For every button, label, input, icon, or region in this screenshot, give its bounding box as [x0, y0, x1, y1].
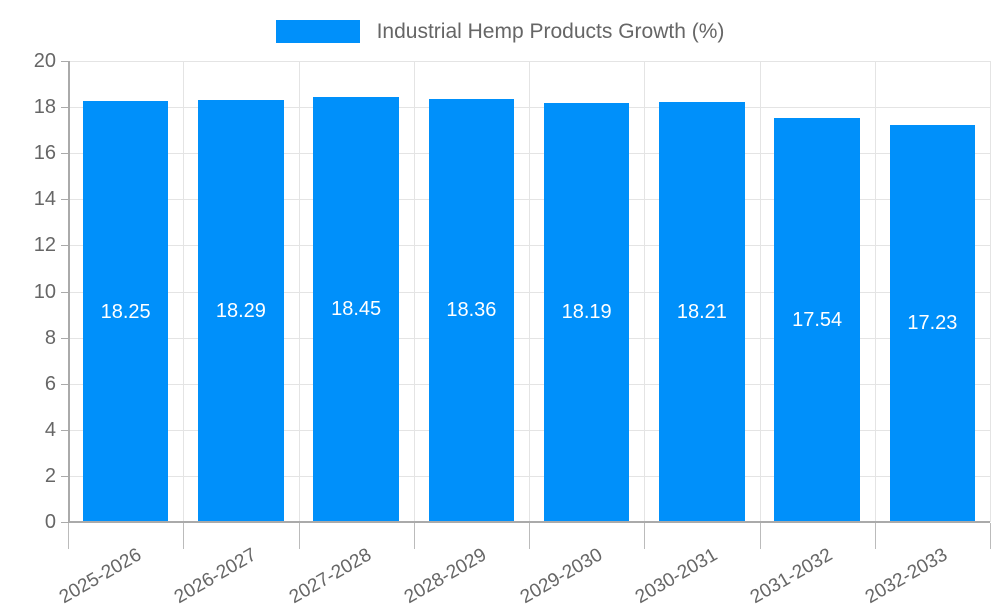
y-axis-tick	[61, 245, 68, 246]
y-axis-tick	[61, 338, 68, 339]
legend-item-label: Industrial Hemp Products Growth (%)	[377, 21, 725, 42]
x-axis-tick	[990, 523, 991, 549]
gridline-vertical	[529, 61, 530, 522]
bar[interactable]: 18.21	[659, 102, 744, 522]
legend-item-industrial-hemp-products-growth[interactable]: Industrial Hemp Products Growth (%)	[276, 20, 725, 43]
y-axis-tick	[61, 61, 68, 62]
x-axis-tick	[760, 523, 761, 549]
x-axis-tick-label-text: 2030-2031	[632, 545, 720, 607]
bar-value-label: 18.36	[429, 300, 514, 320]
gridline-vertical	[990, 61, 991, 522]
bar[interactable]: 17.23	[890, 125, 975, 522]
bar-value-label: 18.29	[198, 301, 283, 321]
y-axis-tick-label-text: 2	[45, 466, 56, 486]
y-axis-tick-label-text: 6	[45, 374, 56, 394]
bar-value-label: 18.25	[83, 302, 168, 322]
x-axis-tick-label-text: 2027-2028	[287, 545, 375, 607]
plot-area: 18.2518.2918.4518.3618.1918.2117.5417.23	[68, 61, 990, 522]
chart-legend: Industrial Hemp Products Growth (%)	[0, 14, 1000, 48]
legend-color-swatch-icon	[276, 20, 360, 43]
bar[interactable]: 18.36	[429, 99, 514, 522]
bar[interactable]: 18.29	[198, 100, 283, 522]
y-axis-tick	[61, 199, 68, 200]
y-axis-tick-label-text: 0	[45, 512, 56, 532]
bar-chart: Industrial Hemp Products Growth (%) 18.2…	[0, 0, 1000, 600]
gridline-vertical	[183, 61, 184, 522]
bar-value-label: 18.45	[313, 299, 398, 319]
y-axis-tick	[61, 522, 68, 523]
gridline-vertical	[875, 61, 876, 522]
x-axis-tick	[183, 523, 184, 549]
y-axis-tick-label-text: 4	[45, 420, 56, 440]
bar[interactable]: 17.54	[774, 118, 859, 522]
x-axis-tick-label-text: 2031-2032	[748, 545, 836, 607]
x-axis-tick	[68, 523, 69, 549]
bar-value-label: 17.54	[774, 310, 859, 330]
y-axis-tick-label-text: 14	[34, 189, 56, 209]
bar[interactable]: 18.25	[83, 101, 168, 522]
y-axis-tick	[61, 430, 68, 431]
y-axis-tick	[61, 476, 68, 477]
y-axis-tick-label-text: 20	[34, 51, 56, 71]
y-axis-tick	[61, 384, 68, 385]
x-axis-tick-label-text: 2032-2033	[863, 545, 951, 607]
x-axis-tick-label-text: 2029-2030	[517, 545, 605, 607]
y-axis-tick	[61, 153, 68, 154]
x-axis-tick	[414, 523, 415, 549]
bar-value-label: 17.23	[890, 313, 975, 333]
bar-value-label: 18.19	[544, 302, 629, 322]
x-axis-tick-label-text: 2028-2029	[402, 545, 490, 607]
y-axis-tick-label-text: 18	[34, 97, 56, 117]
bar-value-label: 18.21	[659, 302, 744, 322]
x-axis-tick-label-text: 2026-2027	[171, 545, 259, 607]
bar[interactable]: 18.19	[544, 103, 629, 522]
x-axis-tick-label-text: 2025-2026	[56, 545, 144, 607]
y-axis-line	[68, 61, 70, 523]
gridline-vertical	[414, 61, 415, 522]
x-axis-tick	[529, 523, 530, 549]
y-axis-tick-label-text: 12	[34, 235, 56, 255]
bar[interactable]: 18.45	[313, 97, 398, 522]
x-axis-tick	[299, 523, 300, 549]
gridline-vertical	[760, 61, 761, 522]
gridline-vertical	[299, 61, 300, 522]
x-axis-tick	[875, 523, 876, 549]
y-axis-tick	[61, 107, 68, 108]
y-axis-tick	[61, 292, 68, 293]
gridline-vertical	[644, 61, 645, 522]
y-axis-tick-label-text: 10	[34, 282, 56, 302]
y-axis-tick-label-text: 8	[45, 328, 56, 348]
y-axis-tick-label-text: 16	[34, 143, 56, 163]
x-axis-tick	[644, 523, 645, 549]
